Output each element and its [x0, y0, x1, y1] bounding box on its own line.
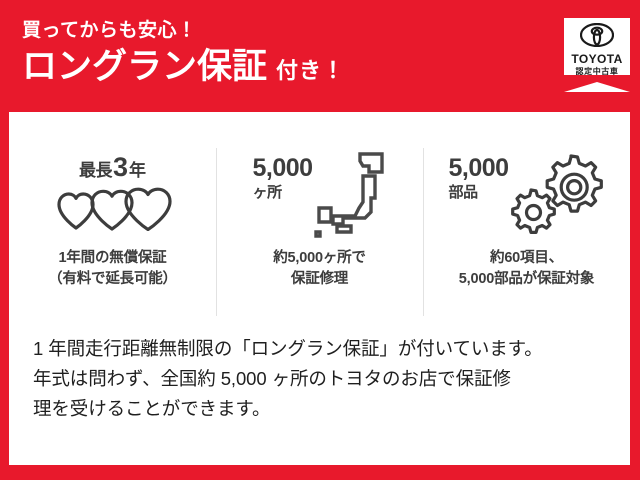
feature-warranty-term: 最長 3 年 — [9, 142, 216, 322]
map-block: 5,000 ヶ所 — [252, 142, 386, 243]
locations-unit: ヶ所 — [252, 185, 281, 200]
toyota-emblem-icon — [580, 23, 614, 52]
caption-line: 5,000部品が保証対象 — [459, 269, 594, 290]
toyota-certified-logo: TOYOTA 認定中古車 — [564, 18, 630, 92]
header-headline: ロングラン保証 — [22, 49, 267, 86]
warranty-term-unit: 年 — [129, 162, 146, 179]
locations-number: 5,000 — [252, 156, 312, 181]
feature-caption-service-locations: 約5,000ヶ所で 保証修理 — [273, 248, 366, 290]
feature-caption-warranty-term: 1年間の無償保証 （有料で延長可能） — [48, 248, 177, 290]
caption-line: 約60項目、 — [459, 248, 594, 269]
locations-badge: 5,000 ヶ所 — [252, 150, 312, 200]
caption-line: 1年間の無償保証 — [48, 248, 177, 269]
feature-columns: 最長 3 年 — [9, 142, 630, 322]
body-copy-line: 1 年間走行距離無制限の「ロングラン保証」が付いています。 — [33, 334, 613, 364]
parts-unit: 部品 — [448, 185, 477, 200]
content-card: 最長 3 年 — [9, 112, 630, 465]
toyota-wordmark: TOYOTA — [571, 53, 622, 65]
header-headline-suffix: 付き！ — [276, 59, 345, 82]
parts-badge: 5,000 部品 — [448, 150, 508, 200]
feature-visual-hearts: 最長 3 年 — [9, 142, 216, 246]
body-copy-line: 年式は問わず、全国約 5,000 ヶ所のトヨタのお店で保証修 — [33, 364, 613, 394]
feature-visual-map: 5,000 ヶ所 — [216, 142, 423, 246]
caption-line: 保証修理 — [273, 269, 366, 290]
warranty-term-badge: 最長 3 年 — [79, 154, 146, 181]
header-headline-row: ロングラン保証 付き！ — [22, 49, 345, 86]
hearts-block: 最長 3 年 — [54, 142, 172, 236]
header-text-group: 買ってからも安心！ ロングラン保証 付き！ — [22, 20, 345, 86]
caption-line: 約5,000ヶ所で — [273, 248, 366, 269]
warranty-term-prefix: 最長 — [79, 162, 112, 179]
feature-service-locations: 5,000 ヶ所 — [216, 142, 423, 322]
header-banner: 買ってからも安心！ ロングラン保証 付き！ TOYOTA 認定中古車 — [0, 0, 640, 112]
parts-number: 5,000 — [448, 156, 508, 181]
header-tagline: 買ってからも安心！ — [22, 20, 345, 42]
advertisement-root: 買ってからも安心！ ロングラン保証 付き！ TOYOTA 認定中古車 — [0, 0, 640, 480]
feature-caption-covered-parts: 約60項目、 5,000部品が保証対象 — [459, 248, 594, 290]
feature-covered-parts: 5,000 部品 — [423, 142, 630, 322]
gear-block: 5,000 部品 — [448, 142, 604, 247]
feature-visual-gears: 5,000 部品 — [423, 142, 630, 246]
logo-chevron-shape — [564, 75, 630, 92]
caption-line: （有料で延長可能） — [48, 269, 177, 290]
three-hearts-icon — [54, 185, 172, 236]
gears-icon — [509, 150, 605, 247]
japan-map-icon — [313, 150, 387, 243]
body-copy-line: 理を受けることができます。 — [33, 394, 613, 424]
warranty-term-number: 3 — [113, 154, 128, 181]
body-copy: 1 年間走行距離無制限の「ロングラン保証」が付いています。 年式は問わず、全国約… — [33, 334, 613, 424]
